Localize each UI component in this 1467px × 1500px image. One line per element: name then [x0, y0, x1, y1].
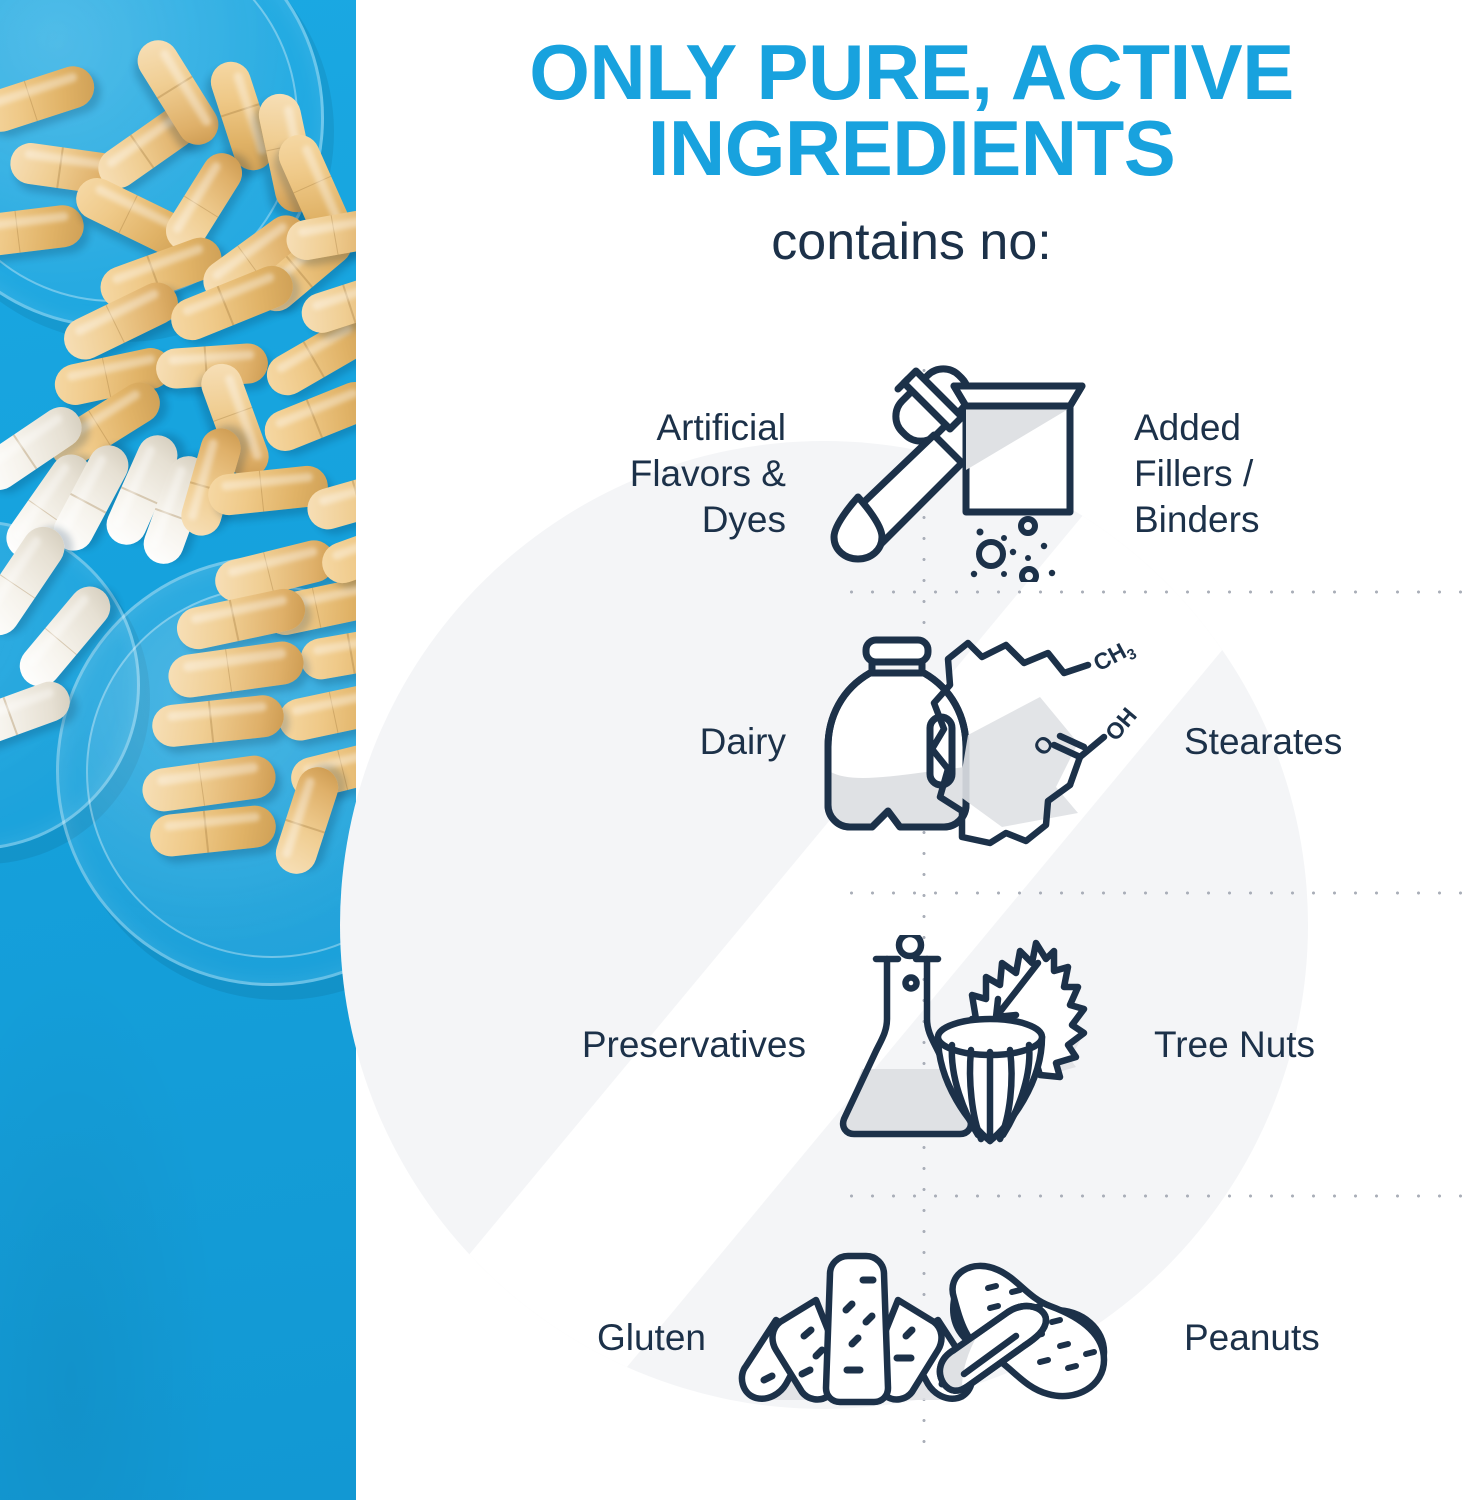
list-item-artificial-flavors-dyes: Artificial Flavors & Dyes [416, 356, 982, 592]
list-item-label: Peanuts [1158, 1315, 1320, 1361]
list-item-dairy: Dairy [416, 600, 982, 885]
capsules-photo [0, 0, 356, 1500]
divider-row-3 [841, 1194, 1467, 1198]
content-panel: ONLY PURE, ACTIVE INGREDIENTS contains n… [356, 0, 1467, 1500]
list-item-gluten: Gluten [416, 1208, 982, 1468]
powder-bag-icon [928, 362, 1108, 587]
page-title: ONLY PURE, ACTIVE INGREDIENTS [356, 34, 1467, 187]
page-subtitle: contains no: [356, 215, 1467, 270]
hazelnut-icon [928, 933, 1128, 1158]
list-item-label: Artificial Flavors & Dyes [630, 405, 812, 544]
list-item-added-fillers-binders: Added Fillers / Binders [928, 356, 1467, 592]
list-item-label: Gluten [597, 1315, 732, 1361]
list-item-label: Tree Nuts [1128, 1022, 1315, 1068]
divider-row-2 [841, 891, 1467, 895]
stearic-acid-molecule-icon: CH3 OH O [928, 625, 1158, 860]
list-item-tree-nuts: Tree Nuts [928, 900, 1467, 1190]
list-item-label: Added Fillers / Binders [1108, 405, 1259, 544]
grid-container: ONLY PURE, ACTIVE INGREDIENTS contains n… [356, 0, 1467, 1500]
svg-text:CH3: CH3 [1089, 634, 1140, 680]
list-item-label: Preservatives [582, 1022, 832, 1068]
list-item-label: Dairy [700, 719, 812, 765]
list-item-stearates: CH3 OH O Stearates [928, 600, 1467, 885]
peanuts-icon [928, 1246, 1158, 1431]
list-item-peanuts: Peanuts [928, 1208, 1467, 1468]
list-item-label: Stearates [1158, 719, 1342, 765]
header: ONLY PURE, ACTIVE INGREDIENTS contains n… [356, 34, 1467, 269]
list-item-preservatives: Preservatives [376, 900, 982, 1190]
infographic-page: ONLY PURE, ACTIVE INGREDIENTS contains n… [0, 0, 1467, 1500]
